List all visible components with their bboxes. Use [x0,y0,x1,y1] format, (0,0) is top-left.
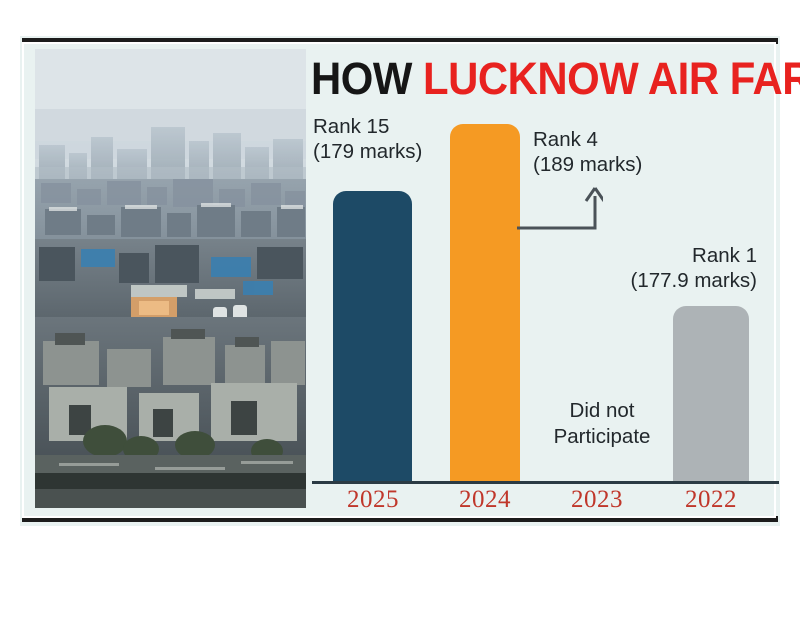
callout-2022-marks: (177.9 marks) [629,268,757,293]
dnp-line-2: Participate [536,424,668,450]
callout-2025-rank: Rank 15 [313,114,422,139]
callout-2025-marks: (179 marks) [313,139,422,164]
chart-x-axis-labels: 2025 2024 2023 2022 [311,486,779,520]
x-label-2022: 2022 [656,486,766,514]
callout-2022-rank: Rank 1 [629,243,757,268]
dnp-line-1: Did not [536,398,668,424]
x-label-2025: 2025 [318,486,428,514]
bar-2024 [450,124,520,481]
card-top-rule [22,38,778,44]
callout-2025: Rank 15 (179 marks) [313,114,422,164]
city-skyline-photo [35,49,306,508]
callout-2024-rank: Rank 4 [533,127,642,152]
title-part-red: LUCKNOW AIR FARES [423,53,800,104]
photo-artwork [35,49,306,508]
bar-2022 [673,306,749,481]
callout-arrow-icon [517,186,603,234]
x-label-2023: 2023 [542,486,652,514]
page-title: HOW LUCKNOW AIR FARES [311,56,800,101]
callout-2022: Rank 1 (177.9 marks) [629,243,757,293]
did-not-participate-note: Did not Participate [536,398,668,449]
chart-axis-line [312,481,779,484]
title-part-black: HOW [311,53,423,104]
callout-2024: Rank 4 (189 marks) [533,127,642,177]
bar-2025 [333,191,412,481]
bar-chart: Rank 15 (179 marks) Rank 4 (189 marks) R… [311,110,779,515]
infographic-canvas: HOW LUCKNOW AIR FARES Rank 15 (179 marks… [0,0,800,620]
x-label-2024: 2024 [430,486,540,514]
callout-2024-marks: (189 marks) [533,152,642,177]
